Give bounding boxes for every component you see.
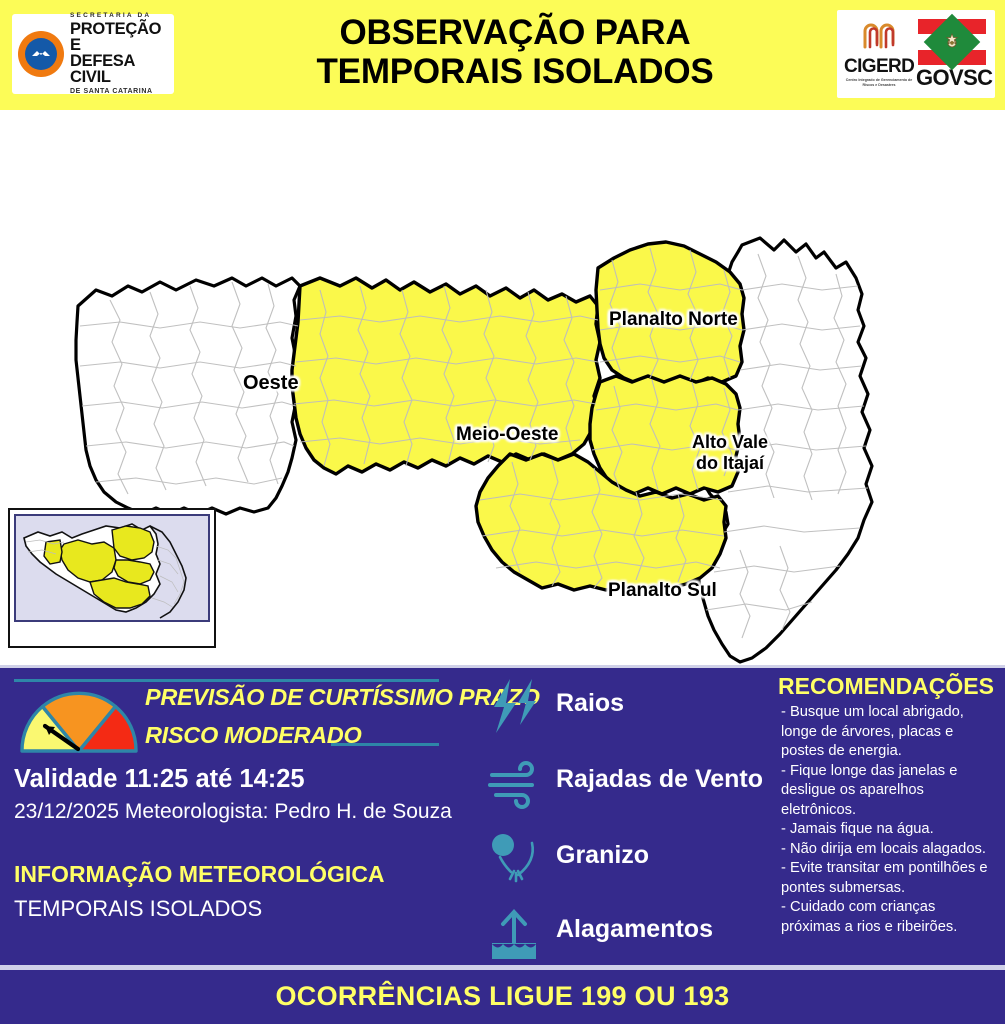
defesa-civil-emblem-icon bbox=[18, 31, 64, 77]
govsc-logo: GOVSC bbox=[916, 19, 988, 89]
gauge-segments bbox=[22, 693, 136, 751]
hazard-label-alagamentos: Alagamentos bbox=[556, 915, 713, 944]
hazard-item-raios: Raios bbox=[484, 677, 770, 739]
cigerd-wordmark: CIGERD bbox=[844, 57, 914, 76]
weather-alert-infographic: SECRETARIA DA PROTEÇÃO E DEFESA CIVIL DE… bbox=[0, 0, 1005, 1024]
recommendations-list: - Busque um local abrigado, longe de árv… bbox=[781, 703, 997, 938]
santa-catarina-flag-icon bbox=[918, 19, 986, 65]
map-label-meio-oeste: Meio-Oeste bbox=[456, 424, 558, 446]
govsc-gov: GOV bbox=[916, 65, 963, 90]
page-title: OBSERVAÇÃO PARA TEMPORAIS ISOLADOS bbox=[250, 13, 780, 91]
cigerd-subtitle: Centro Integrado de Gerenciamento de Ris… bbox=[844, 78, 914, 88]
forecast-rule-top bbox=[14, 679, 439, 682]
govsc-sc: SC bbox=[963, 65, 992, 90]
meteorological-info-value: TEMPORAIS ISOLADOS bbox=[14, 896, 262, 922]
hazards-column: Raios Rajadas de Vento bbox=[470, 665, 770, 965]
logo-line-defesa-civil: DEFESA CIVIL bbox=[70, 53, 174, 86]
validity-text: Validade 11:25 até 14:25 bbox=[14, 765, 305, 794]
risk-gauge bbox=[14, 685, 144, 757]
info-panel: PREVISÃO DE CURTÍSSIMO PRAZO RISCO MODER… bbox=[0, 665, 1005, 965]
recommendation-item: - Cuidado com crianças próximas a rios e… bbox=[781, 898, 997, 937]
recommendation-item: - Evite transitar em pontilhões e pontes… bbox=[781, 859, 997, 898]
defesa-civil-logo: SECRETARIA DA PROTEÇÃO E DEFESA CIVIL DE… bbox=[12, 14, 174, 94]
hazard-label-granizo: Granizo bbox=[556, 841, 649, 870]
header-banner: SECRETARIA DA PROTEÇÃO E DEFESA CIVIL DE… bbox=[0, 0, 1005, 110]
govsc-wordmark: GOVSC bbox=[916, 67, 988, 89]
meteorological-info-title: INFORMAÇÃO METEOROLÓGICA bbox=[14, 861, 385, 888]
forecast-heading-line2: RISCO MODERADO bbox=[145, 722, 361, 749]
recommendations-title: RECOMENDAÇÕES bbox=[775, 673, 997, 700]
hazard-label-raios: Raios bbox=[556, 689, 624, 718]
flooding-icon bbox=[488, 903, 544, 961]
map-label-alto-vale-line1: Alto Vale bbox=[692, 432, 768, 452]
hazard-item-alagamentos: Alagamentos bbox=[484, 903, 770, 965]
logo-line-santa-catarina: DE SANTA CATARINA bbox=[70, 88, 174, 95]
coat-of-arms-icon bbox=[943, 33, 961, 51]
recommendation-item: - Busque um local abrigado, longe de árv… bbox=[781, 703, 997, 762]
page-title-line-2: TEMPORAIS ISOLADOS bbox=[250, 52, 780, 91]
inset-map-frame bbox=[14, 514, 210, 622]
logo-line-protecao: PROTEÇÃO E bbox=[70, 21, 174, 54]
santa-catarina-alert-map: Oeste Meio-Oeste Planalto Norte Alto Val… bbox=[0, 110, 1005, 665]
date-and-meteorologist: 23/12/2025 Meteorologista: Pedro H. de S… bbox=[14, 800, 452, 824]
map-label-oeste: Oeste bbox=[243, 372, 299, 395]
map-label-alto-vale-line2: do Itajaí bbox=[696, 453, 764, 473]
page-title-line-1: OBSERVAÇÃO PARA bbox=[250, 13, 780, 52]
hail-icon bbox=[488, 829, 544, 887]
map-label-planalto-norte: Planalto Norte bbox=[609, 309, 738, 331]
recommendation-item: - Jamais fique na água. bbox=[781, 820, 997, 840]
partner-logos: CIGERD Centro Integrado de Gerenciamento… bbox=[837, 10, 995, 98]
logo-line-secretaria: SECRETARIA DA bbox=[70, 13, 174, 20]
map-label-planalto-sul: Planalto Sul bbox=[608, 580, 717, 602]
hazard-item-granizo: Granizo bbox=[484, 829, 770, 891]
map-label-alto-vale-do-itajai: Alto Vale do Itajaí bbox=[692, 432, 768, 473]
hazard-item-rajadas-de-vento: Rajadas de Vento bbox=[484, 753, 770, 815]
recommendation-item: - Fique longe das janelas e desligue os … bbox=[781, 762, 997, 821]
defesa-civil-wordmark: SECRETARIA DA PROTEÇÃO E DEFESA CIVIL DE… bbox=[70, 13, 174, 95]
map-region-oeste bbox=[76, 278, 300, 514]
cigerd-logo: CIGERD Centro Integrado de Gerenciamento… bbox=[844, 21, 914, 88]
footer-top-rule bbox=[0, 965, 1005, 970]
recommendations-column: RECOMENDAÇÕES - Busque um local abrigado… bbox=[775, 665, 1005, 965]
emergency-footer: OCORRÊNCIAS LIGUE 199 OU 193 bbox=[0, 965, 1005, 1024]
lightning-bolt-icon bbox=[488, 677, 544, 735]
hazard-label-rajadas-de-vento: Rajadas de Vento bbox=[556, 765, 763, 794]
forecast-column: PREVISÃO DE CURTÍSSIMO PRAZO RISCO MODER… bbox=[0, 665, 470, 965]
emergency-phone-text: OCORRÊNCIAS LIGUE 199 OU 193 bbox=[0, 981, 1005, 1012]
inset-map-graphic bbox=[16, 516, 208, 620]
inset-locator-map bbox=[8, 508, 216, 648]
civil-defense-triangle-icon bbox=[31, 49, 51, 59]
recommendation-item: - Não dirija em locais alagados. bbox=[781, 840, 997, 860]
wind-gust-icon bbox=[488, 753, 544, 811]
cigerd-waves-icon bbox=[858, 21, 900, 51]
